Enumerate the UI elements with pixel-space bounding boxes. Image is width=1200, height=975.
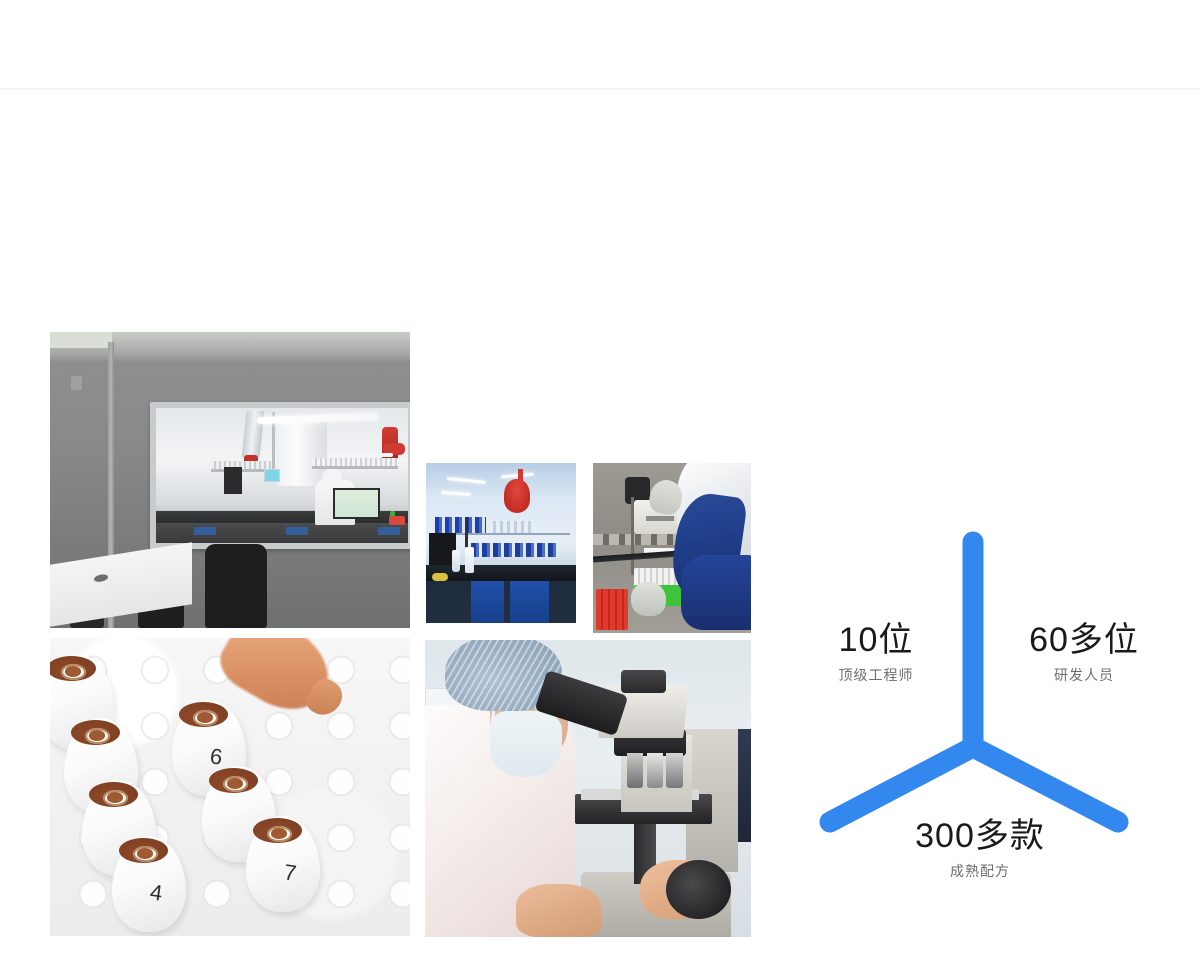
stat-engineers-label: 顶级工程师 bbox=[796, 665, 956, 685]
stat-researchers: 60多位 研发人员 bbox=[996, 622, 1172, 685]
egg-marking-4: 4 bbox=[149, 879, 165, 906]
stat-formulas: 300多款 成熟配方 bbox=[880, 818, 1080, 881]
photo-microscope[interactable]: Female researcher in mask and cap lookin… bbox=[425, 640, 751, 937]
egg-marking-7: 7 bbox=[283, 859, 299, 886]
stat-researchers-label: 研发人员 bbox=[996, 665, 1172, 685]
top-divider bbox=[0, 88, 1200, 90]
y-arm-right bbox=[973, 747, 1118, 822]
page-canvas: Cleanroom observation window with meetin… bbox=[0, 0, 1200, 975]
stat-engineers-value: 10位 bbox=[796, 622, 956, 659]
stat-formulas-label: 成熟配方 bbox=[880, 861, 1080, 881]
egg-marking-6: 6 bbox=[209, 743, 225, 770]
stat-researchers-value: 60多位 bbox=[996, 622, 1172, 659]
photo-lab-bench[interactable]: Blue chemistry laboratory bench with rea… bbox=[426, 463, 576, 623]
photo-pipetting[interactable]: Technician in blue protective sleeves ha… bbox=[593, 463, 751, 633]
stat-formulas-value: 300多款 bbox=[880, 818, 1080, 855]
photo-eggs[interactable]: 4 6 7 Numbered eggs with opened shells s… bbox=[50, 638, 410, 936]
photo-cleanroom[interactable]: Cleanroom observation window with meetin… bbox=[50, 332, 410, 628]
stat-engineers: 10位 顶级工程师 bbox=[796, 622, 956, 685]
y-arm-left bbox=[830, 747, 973, 822]
